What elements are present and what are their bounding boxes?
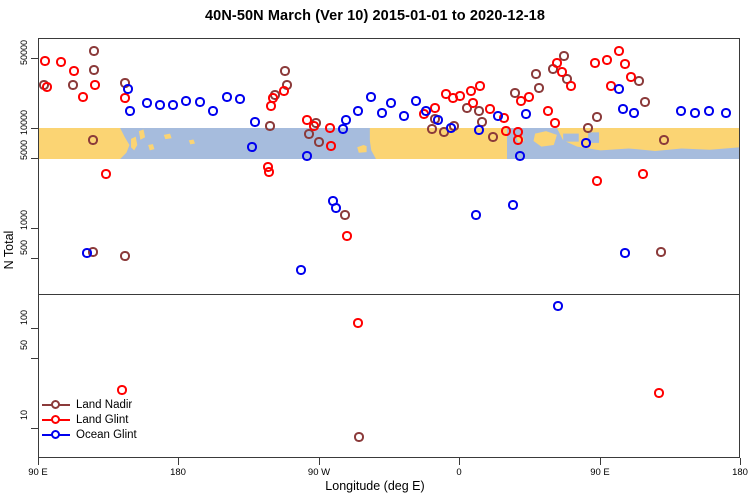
y-tick-mark [31,228,38,229]
data-point [304,129,313,138]
x-tick-label: 90 E [28,467,48,478]
data-point [513,135,522,144]
data-point [264,167,273,176]
y-tick-label: 50 [20,340,29,350]
data-point [377,108,386,117]
data-point [411,96,420,105]
data-point [620,248,629,257]
data-point [250,117,259,126]
data-point [280,66,289,75]
data-point [120,251,129,260]
plot-area [38,38,740,458]
data-point [82,248,91,257]
data-point [553,301,562,310]
data-point [366,92,375,101]
world-map-band [39,128,739,159]
reference-line [39,294,739,295]
data-point [656,247,665,256]
data-point [583,123,592,132]
legend-marker-icon [51,400,60,409]
y-tick-mark [31,428,38,429]
data-point [142,98,151,107]
x-tick-label: 90 E [590,467,610,478]
x-tick-mark [459,458,460,465]
data-point [552,58,561,67]
legend: Land NadirLand GlintOcean Glint [42,397,137,442]
data-point [340,210,349,219]
data-point [474,125,483,134]
x-tick-mark [740,458,741,465]
data-point [488,132,497,141]
data-point [354,432,363,441]
plot-canvas [39,39,739,457]
data-point [123,84,132,93]
data-point [353,106,362,115]
data-point [659,135,668,144]
x-tick-mark [319,458,320,465]
chart-title: 40N-50N March (Ver 10) 2015-01-01 to 202… [0,8,750,24]
x-tick-label: 90 W [308,467,330,478]
data-point [208,106,217,115]
chart-figure: 40N-50N March (Ver 10) 2015-01-01 to 202… [0,0,750,500]
data-point [654,388,663,397]
data-point [342,231,351,240]
data-point [690,108,699,117]
data-point [602,55,611,64]
data-point [296,265,305,274]
data-point [195,97,204,106]
x-tick-label: 180 [732,467,748,478]
data-point [325,123,334,132]
y-axis: N Total 5000010000500010005001005010 [0,0,38,500]
legend-label: Land Nadir [70,399,132,411]
legend-marker-icon [51,415,60,424]
data-point [279,86,288,95]
data-point [101,169,110,178]
legend-symbol [42,427,70,442]
data-point [69,66,78,75]
y-tick-mark [31,128,38,129]
data-point [421,106,430,115]
y-tick-mark [31,158,38,159]
data-point [592,112,601,121]
y-tick-label: 50000 [20,40,29,65]
data-point [455,91,464,100]
data-point [524,92,533,101]
x-tick-mark [600,458,601,465]
data-point [566,81,575,90]
data-point [531,69,540,78]
data-point [265,121,274,130]
x-axis-title: Longitude (deg E) [0,479,750,493]
data-point [550,118,559,127]
data-point [475,81,484,90]
data-point [640,97,649,106]
data-point [427,124,436,133]
data-point [120,93,129,102]
data-point [534,83,543,92]
data-point [629,108,638,117]
data-point [268,93,277,102]
data-point [430,103,439,112]
data-point [626,72,635,81]
data-point [433,115,442,124]
data-point [521,109,530,118]
data-point [331,203,340,212]
x-tick-mark [38,458,39,465]
data-point [386,98,395,107]
legend-symbol [42,412,70,427]
data-point [168,100,177,109]
y-tick-mark [31,58,38,59]
data-point [90,80,99,89]
legend-label: Ocean Glint [70,429,137,441]
data-point [557,67,566,76]
data-point [353,318,362,327]
data-point [721,108,730,117]
y-tick-label: 1000 [20,210,29,230]
data-point [302,151,311,160]
data-point [181,96,190,105]
legend-marker-icon [51,430,60,439]
legend-symbol [42,397,70,412]
data-point [618,104,627,113]
data-point [493,111,502,120]
data-point [592,176,601,185]
data-point [620,59,629,68]
y-tick-mark [31,258,38,259]
data-point [89,65,98,74]
data-point [88,135,97,144]
data-point [515,151,524,160]
data-point [614,84,623,93]
y-tick-label: 500 [20,240,29,255]
data-point [399,111,408,120]
x-tick-label: 0 [456,467,461,478]
data-point [222,92,231,101]
data-point [446,123,455,132]
legend-label: Land Glint [70,414,128,426]
data-point [56,57,65,66]
data-point [634,76,643,85]
y-tick-label: 10000 [20,110,29,135]
legend-item: Land Nadir [42,397,137,412]
data-point [466,86,475,95]
data-point [704,106,713,115]
data-point [309,121,318,130]
data-point [468,98,477,107]
data-point [155,100,164,109]
x-tick-mark [178,458,179,465]
data-point [590,58,599,67]
legend-item: Land Glint [42,412,137,427]
data-point [501,126,510,135]
data-point [40,56,49,65]
data-point [68,80,77,89]
data-point [266,101,275,110]
legend-item: Ocean Glint [42,427,137,442]
data-point [338,124,347,133]
data-point [638,169,647,178]
data-point [543,106,552,115]
data-point [326,141,335,150]
y-tick-label: 10 [20,410,29,420]
data-point [474,106,483,115]
y-tick-label: 100 [20,310,29,325]
data-point [314,137,323,146]
y-tick-mark [31,328,38,329]
world-map-graphic [39,128,739,159]
data-point [117,385,126,394]
data-point [513,127,522,136]
data-point [42,82,51,91]
x-tick-label: 180 [170,467,186,478]
data-point [89,46,98,55]
data-point [235,94,244,103]
data-point [247,142,256,151]
data-point [581,138,590,147]
data-point [614,46,623,55]
y-tick-mark [31,358,38,359]
data-point [341,115,350,124]
data-point [471,210,480,219]
data-point [676,106,685,115]
data-point [508,200,517,209]
y-axis-title: N Total [2,231,16,270]
data-point [125,106,134,115]
data-point [78,92,87,101]
y-tick-label: 5000 [20,140,29,160]
